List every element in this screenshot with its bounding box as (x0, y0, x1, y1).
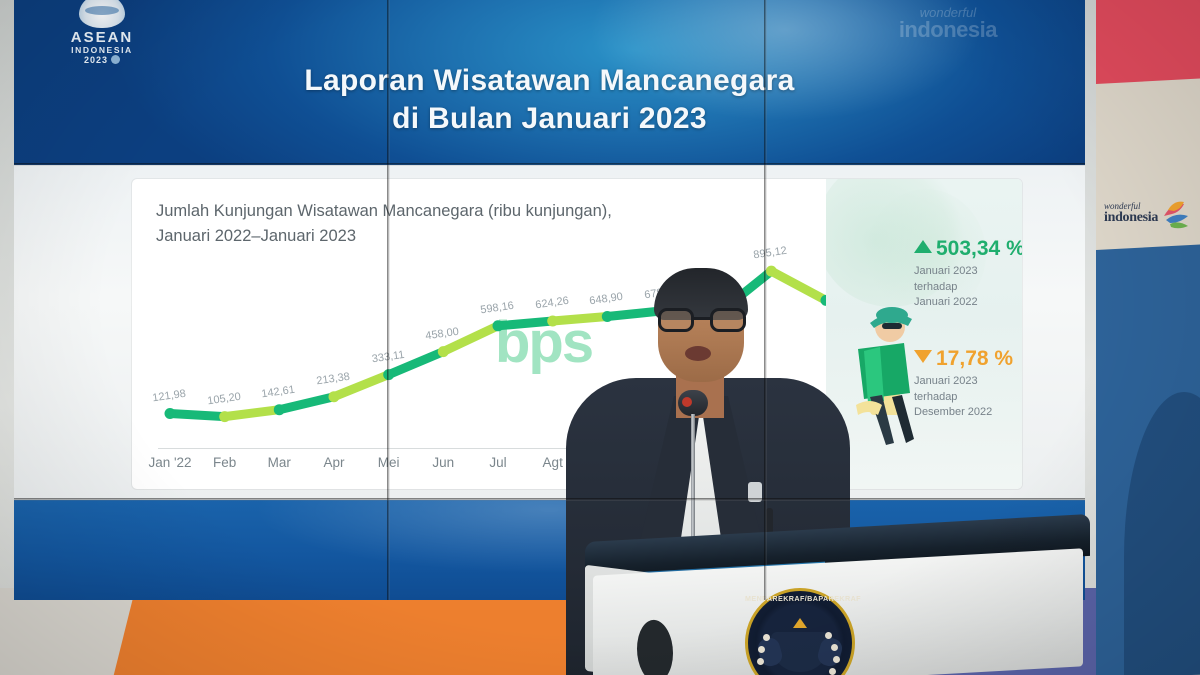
banner-red-band (1096, 0, 1200, 88)
stat-value-mom: 17,78 % (914, 347, 1013, 371)
emblem-star-icon (793, 618, 807, 628)
videowall-seam-h1 (14, 163, 1085, 166)
podium: MENPAREKRAF/BAPAREKRAF (585, 528, 1090, 675)
chart-x-label: Apr (323, 455, 344, 470)
chart-title-line2: Januari 2022–Januari 2023 (156, 224, 796, 249)
emblem-bead (831, 644, 838, 651)
emblem-bead (757, 658, 764, 665)
emblem-bead (758, 646, 765, 653)
chart-x-label: Feb (213, 455, 236, 470)
asean-logo-line1: ASEAN (52, 30, 152, 46)
menparekraf-emblem: MENPAREKRAF/BAPAREKRAF (745, 588, 855, 675)
videowall-seam-v1 (387, 0, 390, 600)
videowall-seam-v2 (764, 0, 767, 600)
stat-caption-yoy: Januari 2023 terhadap Januari 2022 (914, 264, 1022, 311)
speaker-mouth (685, 346, 711, 361)
chart-title: Jumlah Kunjungan Wisatawan Mancanegara (… (156, 199, 796, 249)
asean-logo-line2: INDONESIA (52, 46, 152, 55)
wonderful-indonesia-banner: wonderful indonesia (1096, 0, 1200, 675)
speaker-glasses (658, 308, 746, 332)
emblem-text: MENPAREKRAF/BAPAREKRAF (745, 594, 855, 603)
stat-value-yoy: 503,34 % (914, 237, 1022, 261)
glasses-lens-right (710, 308, 746, 332)
glasses-bridge (694, 317, 710, 320)
triangle-up-icon (914, 240, 932, 253)
chart-x-label: Jan '22 (148, 455, 191, 470)
stat-caption-mom: Januari 2023 terhadap Desember 2022 (914, 374, 1013, 421)
glasses-lens-left (658, 308, 694, 332)
chart-x-label: Jul (489, 455, 506, 470)
emblem-bead (825, 632, 832, 639)
screenshot-stage: ASEAN INDONESIA 2023 wonderful indonesia… (0, 0, 1200, 675)
asean-logo: ASEAN INDONESIA 2023 (52, 0, 152, 65)
videowall-seam-h2 (14, 498, 1085, 501)
title-line-2: di Bulan Januari 2023 (14, 100, 1085, 138)
emblem-bead (763, 634, 770, 641)
chart-title-line1: Jumlah Kunjungan Wisatawan Mancanegara (… (156, 199, 796, 224)
globe-icon (79, 0, 125, 28)
microphone-indicator-icon (682, 397, 692, 407)
chart-x-label: Jun (432, 455, 454, 470)
slide-title-band: ASEAN INDONESIA 2023 wonderful indonesia… (14, 0, 1085, 165)
chart-x-label: Mar (268, 455, 291, 470)
triangle-down-icon (914, 350, 932, 363)
wonderful-indonesia-bird-icon (1158, 196, 1192, 230)
title-line-1: Laporan Wisatawan Mancanegara (304, 64, 794, 97)
page-title: Laporan Wisatawan Mancanegara di Bulan J… (14, 62, 1085, 137)
emblem-bead (829, 668, 836, 675)
stat-block-mom: 17,78 % Januari 2023 terhadap Desember 2… (914, 347, 1013, 421)
stat-block-yoy: 503,34 % Januari 2023 terhadap Januari 2… (914, 237, 1022, 311)
emblem-bead (833, 656, 840, 663)
